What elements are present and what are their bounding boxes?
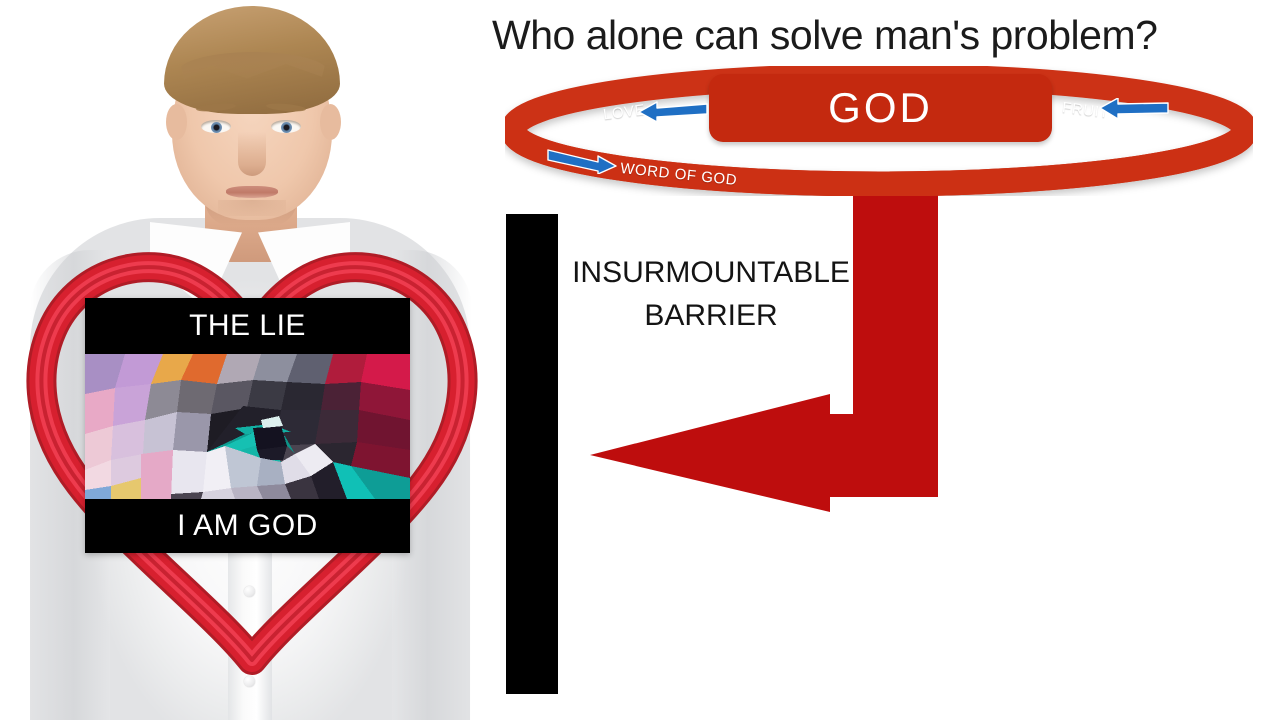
the-lie-banner: THE LIE <box>85 298 410 354</box>
mouth <box>226 186 278 198</box>
barrier-label: INSURMOUNTABLE BARRIER <box>572 252 850 337</box>
elbow-arrow-down-left <box>580 180 950 520</box>
iris-left <box>211 122 222 133</box>
god-center-box: GOD <box>709 74 1052 142</box>
blue-arrow-right-icon <box>546 148 618 174</box>
insurmountable-barrier-bar <box>506 214 558 694</box>
lie-card: THE LIE <box>85 298 410 553</box>
iris-right <box>281 122 292 133</box>
god-label: GOD <box>709 74 1052 142</box>
ear-left <box>166 104 187 140</box>
ear-right <box>320 104 341 140</box>
barrier-label-line-2: BARRIER <box>572 295 850 338</box>
barrier-label-line-1: INSURMOUNTABLE <box>572 252 850 295</box>
low-poly-eye-image <box>85 354 410 499</box>
slide-canvas: THE LIE <box>0 0 1280 720</box>
page-title: Who alone can solve man's problem? <box>492 12 1192 59</box>
blue-arrow-left-icon <box>1098 98 1170 120</box>
i-am-god-banner: I AM GOD <box>85 499 410 553</box>
nose <box>238 132 266 176</box>
blue-arrow-left-icon <box>637 100 709 122</box>
